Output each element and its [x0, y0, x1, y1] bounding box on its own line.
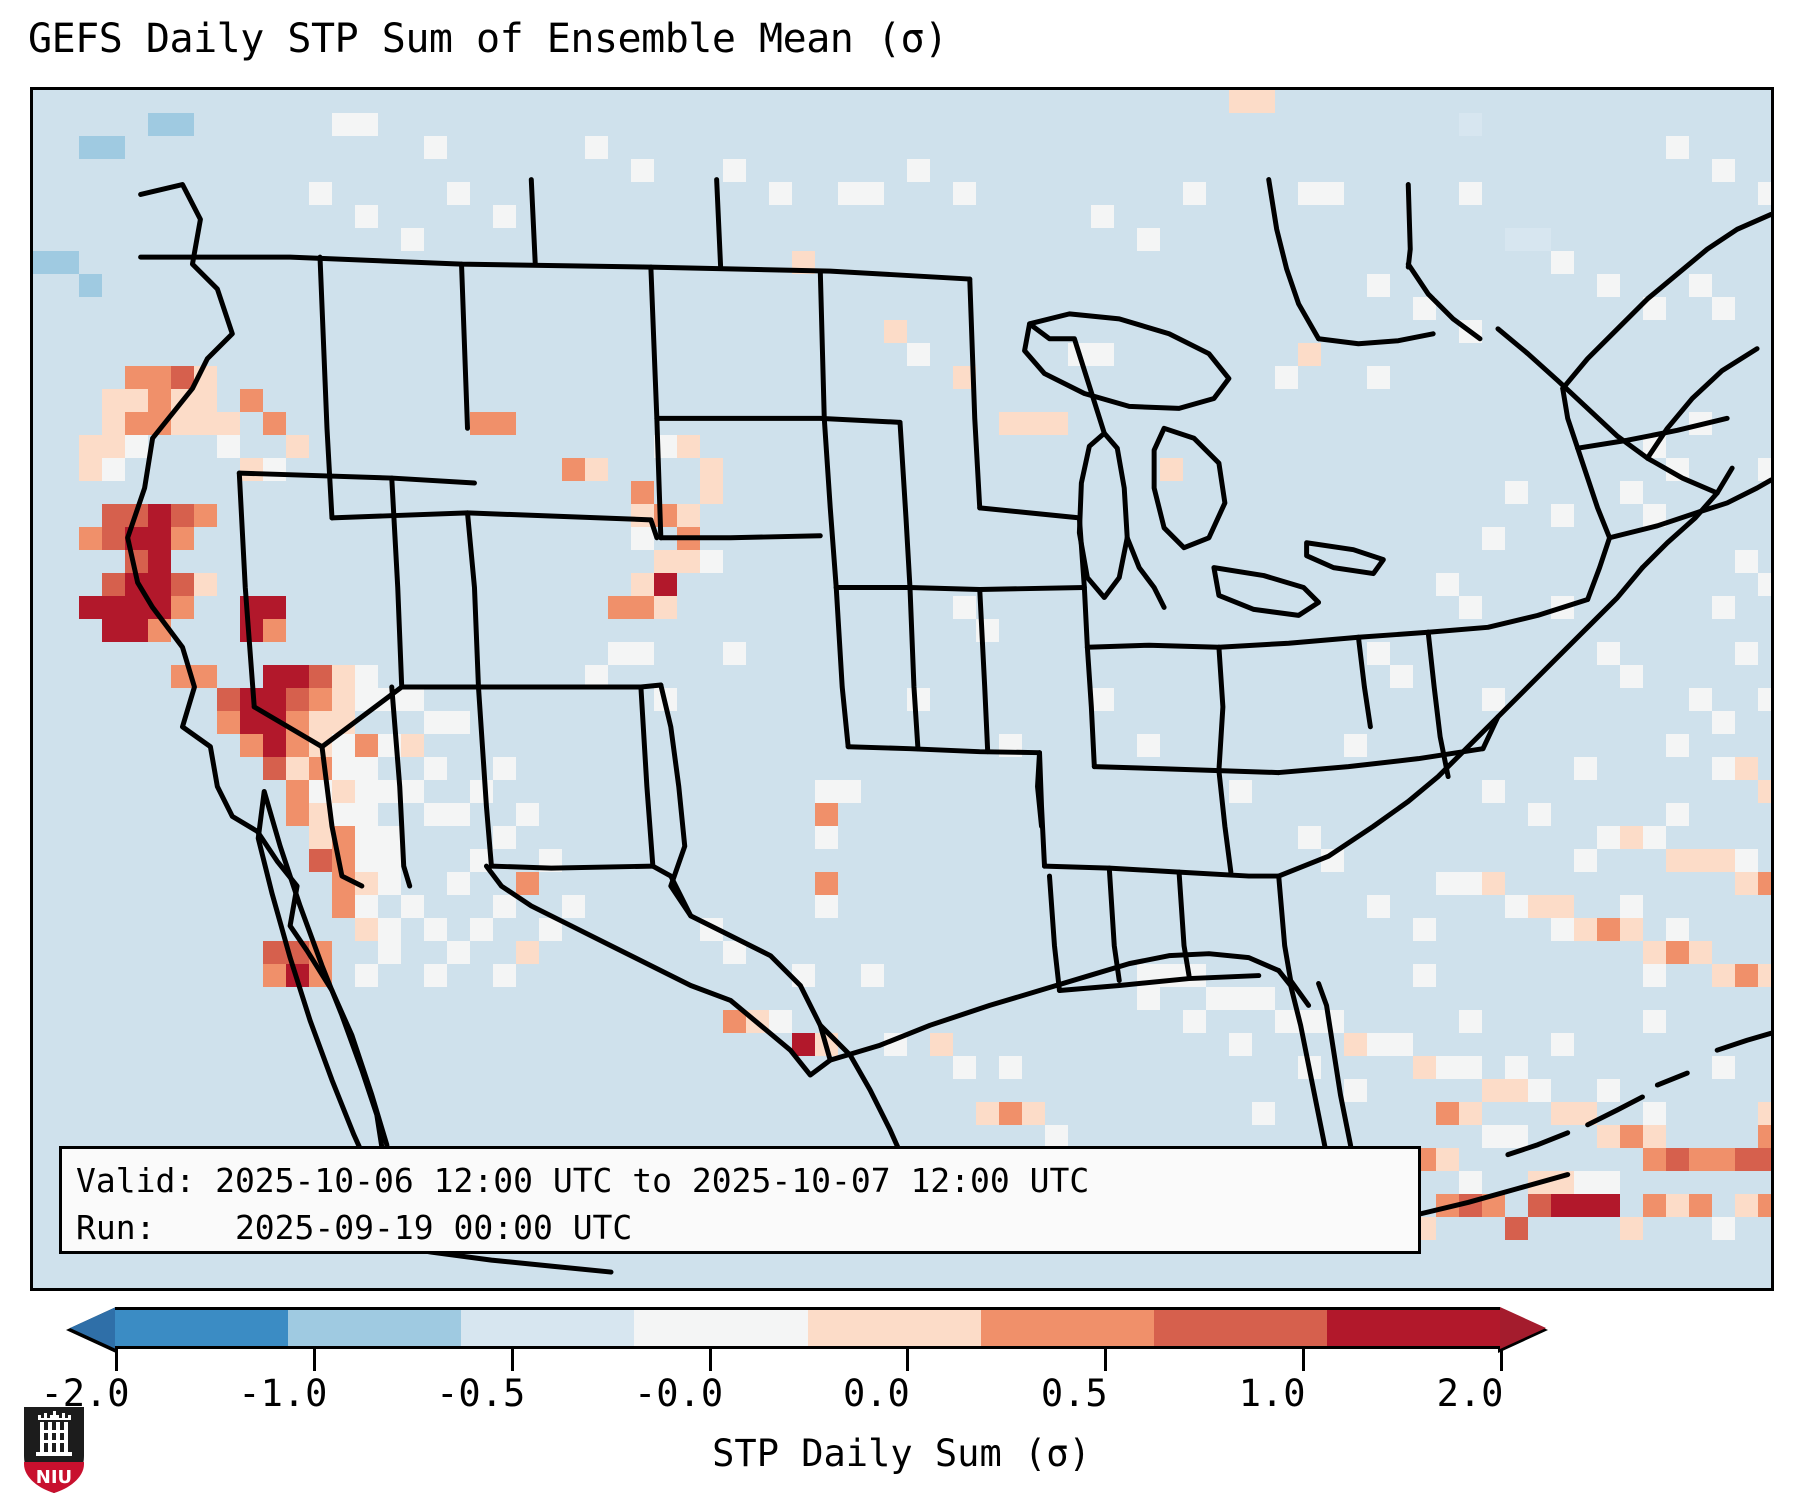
heatmap-cell	[401, 688, 424, 711]
heatmap-cell	[1735, 550, 1758, 573]
heatmap-cell	[815, 872, 838, 895]
heatmap-cell	[194, 573, 217, 596]
heatmap-cell	[1597, 918, 1620, 941]
heatmap-cell	[1091, 343, 1114, 366]
heatmap-cell	[815, 918, 838, 941]
figure-root: GEFS Daily STP Sum of Ensemble Mean (σ)	[0, 0, 1803, 1506]
heatmap-cell	[953, 366, 976, 389]
heatmap-cell	[102, 596, 125, 619]
heatmap-cell	[102, 527, 125, 550]
heatmap-cell	[1436, 1148, 1459, 1171]
heatmap-cell	[309, 757, 332, 780]
heatmap-cell	[355, 826, 378, 849]
heatmap-cell	[1528, 895, 1551, 918]
heatmap-cell	[700, 458, 723, 481]
heatmap-cell	[240, 734, 263, 757]
heatmap-cell	[332, 665, 355, 688]
heatmap-cell	[907, 688, 930, 711]
heatmap-cell	[792, 1033, 815, 1056]
heatmap-cell	[1597, 826, 1620, 849]
heatmap-cell	[332, 757, 355, 780]
heatmap-cell	[1735, 964, 1758, 987]
heatmap-cell	[355, 780, 378, 803]
heatmap-cell	[217, 688, 240, 711]
heatmap-cell	[1551, 1033, 1574, 1056]
heatmap-cell	[447, 596, 470, 619]
run-time-text: Run: 2025-09-19 00:00 UTC	[76, 1204, 1404, 1251]
heatmap-cell	[148, 550, 171, 573]
heatmap-cell	[125, 573, 148, 596]
heatmap-cell	[1367, 1033, 1390, 1056]
heatmap-cell	[746, 734, 769, 757]
heatmap-cell	[309, 780, 332, 803]
heatmap-cell	[815, 895, 838, 918]
colorbar-under-arrow	[70, 1307, 116, 1349]
heatmap-cell	[1367, 642, 1390, 665]
heatmap-cell	[240, 389, 263, 412]
heatmap-cell	[1505, 895, 1528, 918]
heatmap-cell	[309, 803, 332, 826]
heatmap-cell	[1298, 182, 1321, 205]
heatmap-cell	[1712, 1056, 1735, 1079]
heatmap-cell	[1482, 1194, 1505, 1217]
page-title: GEFS Daily STP Sum of Ensemble Mean (σ)	[28, 16, 1788, 62]
heatmap-cell	[1689, 274, 1712, 297]
heatmap-cell	[1551, 1194, 1574, 1217]
heatmap-cell	[286, 757, 309, 780]
heatmap-cell	[1344, 1079, 1367, 1102]
heatmap-cell	[447, 803, 470, 826]
heatmap-cell	[102, 619, 125, 642]
heatmap-cell	[217, 435, 240, 458]
heatmap-cell	[1091, 688, 1114, 711]
heatmap-cell	[1068, 343, 1091, 366]
heatmap-cell	[1735, 872, 1758, 895]
heatmap-cell	[1620, 1125, 1643, 1148]
heatmap-cell	[1597, 1194, 1620, 1217]
heatmap-cell	[1160, 458, 1183, 481]
heatmap-cell	[746, 1010, 769, 1033]
heatmap-cell	[1666, 458, 1689, 481]
heatmap-cell	[470, 596, 493, 619]
heatmap-cell	[723, 642, 746, 665]
heatmap-cell	[171, 573, 194, 596]
heatmap-cell	[79, 527, 102, 550]
heatmap-cell	[585, 136, 608, 159]
heatmap-cell	[171, 504, 194, 527]
heatmap-cell	[1413, 918, 1436, 941]
heatmap-cell	[1666, 849, 1689, 872]
heatmap-cell	[378, 918, 401, 941]
heatmap-cell	[516, 872, 539, 895]
heatmap-cell	[1045, 1125, 1068, 1148]
colorbar-band	[1154, 1310, 1327, 1346]
heatmap-cell	[286, 780, 309, 803]
heatmap-cell	[148, 527, 171, 550]
heatmap-cell	[654, 688, 677, 711]
heatmap-cell	[1712, 964, 1735, 987]
heatmap-cell	[1620, 826, 1643, 849]
colorbar-tick	[115, 1349, 118, 1371]
heatmap-cell	[148, 389, 171, 412]
heatmap-cell	[1551, 504, 1574, 527]
heatmap-cell	[1574, 1102, 1597, 1125]
heatmap-cell	[1367, 274, 1390, 297]
heatmap-cell	[1643, 941, 1666, 964]
heatmap-cell	[608, 596, 631, 619]
heatmap-cell	[1758, 688, 1774, 711]
heatmap-cell	[953, 1056, 976, 1079]
heatmap-cell	[1505, 1125, 1528, 1148]
heatmap-cell	[1298, 1056, 1321, 1079]
heatmap-cell	[1229, 780, 1252, 803]
heatmap-cell	[171, 389, 194, 412]
heatmap-cell	[1620, 918, 1643, 941]
heatmap-cell	[148, 504, 171, 527]
heatmap-cell	[1344, 504, 1367, 527]
heatmap-cell	[1229, 987, 1252, 1010]
heatmap-cell	[424, 757, 447, 780]
heatmap-cell	[378, 734, 401, 757]
heatmap-cell	[1735, 642, 1758, 665]
heatmap-cell	[470, 550, 493, 573]
heatmap-cell	[355, 734, 378, 757]
heatmap-cell	[79, 458, 102, 481]
heatmap-cell	[401, 228, 424, 251]
heatmap-cell	[792, 964, 815, 987]
heatmap-cell	[1390, 665, 1413, 688]
heatmap-cell	[1551, 596, 1574, 619]
heatmap-cell	[631, 481, 654, 504]
heatmap-cell	[263, 458, 286, 481]
heatmap-cell	[1643, 504, 1666, 527]
heatmap-cell	[1643, 826, 1666, 849]
heatmap-cell	[1712, 596, 1735, 619]
heatmap-cell	[654, 550, 677, 573]
heatmap-cell	[1505, 1056, 1528, 1079]
heatmap-cell	[1505, 366, 1528, 389]
heatmap-cell	[815, 1033, 838, 1056]
heatmap-cell	[585, 458, 608, 481]
heatmap-cell	[447, 711, 470, 734]
heatmap-cell	[102, 435, 125, 458]
colorbar-band	[634, 1310, 807, 1346]
map-panel[interactable]	[30, 87, 1774, 1291]
colorbar-band	[1327, 1310, 1500, 1346]
heatmap-cell	[1758, 964, 1774, 987]
heatmap-cell	[1321, 1010, 1344, 1033]
heatmap-cell	[332, 734, 355, 757]
heatmap-cell	[1459, 113, 1482, 136]
heatmap-cell	[309, 941, 332, 964]
heatmap-cell	[1620, 481, 1643, 504]
heatmap-cell	[700, 550, 723, 573]
heatmap-cell	[378, 849, 401, 872]
heatmap-cell	[838, 182, 861, 205]
heatmap-cell	[1459, 320, 1482, 343]
heatmap-cell	[355, 665, 378, 688]
heatmap-cell	[263, 711, 286, 734]
heatmap-cell	[240, 619, 263, 642]
heatmap-cell	[148, 366, 171, 389]
heatmap-cell	[677, 435, 700, 458]
colorbar-band	[981, 1310, 1154, 1346]
heatmap-cell	[1436, 1056, 1459, 1079]
heatmap-cell	[33, 251, 56, 274]
heatmap-cell	[171, 527, 194, 550]
heatmap-cell	[217, 412, 240, 435]
heatmap-cell	[1229, 458, 1252, 481]
heatmap-cell	[1597, 1171, 1620, 1194]
heatmap-cell	[1574, 1171, 1597, 1194]
heatmap-cell	[1413, 435, 1436, 458]
heatmap-cell	[1758, 780, 1774, 803]
heatmap-cell	[1643, 1010, 1666, 1033]
heatmap-cell	[1597, 366, 1620, 389]
heatmap-cell	[1666, 136, 1689, 159]
colorbar-tick-label: -1.0	[238, 1372, 327, 1415]
heatmap-cell	[1758, 1102, 1774, 1125]
heatmap-cell	[1229, 1033, 1252, 1056]
heatmap-cell	[1643, 435, 1666, 458]
heatmap-cell	[999, 412, 1022, 435]
heatmap-cell	[148, 596, 171, 619]
niu-logo: NIU	[16, 1404, 92, 1496]
heatmap-cell	[263, 412, 286, 435]
heatmap-cell	[1390, 1033, 1413, 1056]
niu-logo-text: NIU	[36, 1467, 72, 1488]
heatmap-cell	[1643, 297, 1666, 320]
heatmap-cell	[1551, 918, 1574, 941]
heatmap-cell	[723, 711, 746, 734]
heatmap-cell	[516, 941, 539, 964]
heatmap-cell	[355, 757, 378, 780]
heatmap-cell	[608, 642, 631, 665]
heatmap-cell	[378, 872, 401, 895]
heatmap-cell	[1712, 757, 1735, 780]
heatmap-cell	[838, 780, 861, 803]
heatmap-cell	[355, 688, 378, 711]
heatmap-cell	[1252, 458, 1275, 481]
colorbar-tick	[1500, 1349, 1503, 1371]
heatmap-cell	[263, 964, 286, 987]
heatmap-cell	[447, 550, 470, 573]
colorbar-tick-label: 0.0	[843, 1372, 910, 1415]
heatmap-cell	[286, 941, 309, 964]
heatmap-cell	[1689, 1148, 1712, 1171]
heatmap-cell	[1528, 803, 1551, 826]
heatmap-cell	[953, 182, 976, 205]
heatmap-cell	[1252, 987, 1275, 1010]
heatmap-cell	[1643, 1125, 1666, 1148]
heatmap-cell	[148, 573, 171, 596]
heatmap-cell	[1206, 987, 1229, 1010]
heatmap-cell	[332, 849, 355, 872]
heatmap-cell	[355, 113, 378, 136]
heatmap-cell	[1528, 228, 1551, 251]
heatmap-cell	[1298, 826, 1321, 849]
heatmap-cell	[1344, 1033, 1367, 1056]
heatmap-cell	[355, 895, 378, 918]
heatmap-cell	[102, 504, 125, 527]
heatmap-cell	[1712, 297, 1735, 320]
heatmap-cell	[723, 941, 746, 964]
heatmap-cell	[286, 803, 309, 826]
heatmap-cell	[1022, 412, 1045, 435]
heatmap-cell	[1551, 136, 1574, 159]
heatmap-cell	[171, 366, 194, 389]
heatmap-cell	[1482, 872, 1505, 895]
heatmap-cell	[1482, 1125, 1505, 1148]
heatmap-cell	[1666, 803, 1689, 826]
heatmap-cell	[171, 412, 194, 435]
heatmap-cell	[263, 665, 286, 688]
heatmap-cell	[493, 895, 516, 918]
heatmap-cell	[1666, 1148, 1689, 1171]
colorbar-tick	[709, 1349, 712, 1371]
heatmap-cell	[1367, 895, 1390, 918]
heatmap-cell	[286, 734, 309, 757]
heatmap-cell	[470, 780, 493, 803]
colorbar-band	[288, 1310, 461, 1346]
heatmap-cell	[1045, 412, 1068, 435]
heatmap-cell	[1712, 1217, 1735, 1240]
heatmap-cell	[309, 665, 332, 688]
heatmap-cell	[1413, 964, 1436, 987]
heatmap-cell	[1551, 895, 1574, 918]
heatmap-cell	[1620, 366, 1643, 389]
heatmap-cell	[447, 941, 470, 964]
heatmap-cell	[1758, 1125, 1774, 1148]
heatmap-cell	[1022, 1102, 1045, 1125]
heatmap-cell	[286, 964, 309, 987]
colorbar-tick-label: -0.5	[436, 1372, 525, 1415]
colorbar-ticks	[115, 1349, 1500, 1371]
heatmap-cell	[631, 527, 654, 550]
heatmap-cell	[332, 826, 355, 849]
colorbar-bands[interactable]	[115, 1307, 1500, 1349]
heatmap-cell	[125, 596, 148, 619]
heatmap-cell	[677, 504, 700, 527]
heatmap-cell	[562, 895, 585, 918]
heatmap-cell	[1643, 1148, 1666, 1171]
heatmap-cell	[79, 596, 102, 619]
heatmap-cell	[286, 435, 309, 458]
heatmap-cell	[125, 504, 148, 527]
heatmap-cell	[1459, 1010, 1482, 1033]
heatmap-cell	[1482, 780, 1505, 803]
heatmap-cell	[1183, 182, 1206, 205]
colorbar-band	[808, 1310, 981, 1346]
heatmap-cell	[516, 803, 539, 826]
heatmap-cell	[654, 435, 677, 458]
heatmap-cell	[194, 366, 217, 389]
heatmap-cell	[1137, 964, 1160, 987]
heatmap-cell	[815, 780, 838, 803]
heatmap-cell	[1436, 1102, 1459, 1125]
heatmap-cell	[1367, 366, 1390, 389]
heatmap-cell	[1505, 1079, 1528, 1102]
heatmap-cell	[125, 550, 148, 573]
heatmap-cell	[125, 366, 148, 389]
heatmap-cell	[1344, 734, 1367, 757]
heatmap-cell	[1436, 1194, 1459, 1217]
heatmap-cell	[79, 435, 102, 458]
heatmap-cell	[470, 918, 493, 941]
heatmap-cell	[907, 343, 930, 366]
heatmap-cell	[493, 412, 516, 435]
heatmap-cell	[470, 412, 493, 435]
heatmap-cell	[309, 826, 332, 849]
heatmap-cell	[1758, 1148, 1774, 1171]
heatmap-cell	[378, 780, 401, 803]
heatmap-cell	[79, 274, 102, 297]
heatmap-cell	[1574, 757, 1597, 780]
heatmap-cell	[424, 803, 447, 826]
colorbar-band	[115, 1310, 288, 1346]
heatmap-cell	[1505, 1217, 1528, 1240]
heatmap-cell	[171, 596, 194, 619]
heatmap-cell	[1620, 895, 1643, 918]
heatmap-cell	[1229, 90, 1252, 113]
heatmap-cell	[493, 757, 516, 780]
heatmap-cell	[1482, 527, 1505, 550]
colorbar[interactable]	[30, 1307, 1774, 1349]
heatmap-cell	[1436, 573, 1459, 596]
heatmap-cell	[148, 619, 171, 642]
heatmap-cell	[424, 136, 447, 159]
heatmap-cell	[1252, 90, 1275, 113]
heatmap-cell	[1574, 849, 1597, 872]
colorbar-tick-label: 1.0	[1239, 1372, 1306, 1415]
heatmap-cell	[769, 1010, 792, 1033]
heatmap-cell	[125, 435, 148, 458]
heatmap-cell	[792, 251, 815, 274]
heatmap-cell	[1758, 573, 1774, 596]
heatmap-cell	[1758, 872, 1774, 895]
heatmap-cell	[355, 803, 378, 826]
colorbar-axis-label: STP Daily Sum (σ)	[0, 1432, 1803, 1475]
heatmap-cell	[1712, 849, 1735, 872]
heatmap-cell	[309, 688, 332, 711]
heatmap-cell	[1321, 182, 1344, 205]
heatmap-cell	[1091, 205, 1114, 228]
heatmap-cell	[677, 550, 700, 573]
heatmap-cell	[1551, 1171, 1574, 1194]
heatmap-cell	[1298, 343, 1321, 366]
heatmap-cell	[769, 182, 792, 205]
heatmap-cell	[148, 412, 171, 435]
heatmap-cell	[286, 665, 309, 688]
heatmap-cell	[861, 182, 884, 205]
heatmap-cell	[1436, 872, 1459, 895]
heatmap-cell	[309, 711, 332, 734]
heatmap-cell	[263, 619, 286, 642]
heatmap-cell	[1689, 941, 1712, 964]
heatmap-cell	[286, 688, 309, 711]
heatmap-cell	[401, 780, 424, 803]
heatmap-cell	[1252, 1102, 1275, 1125]
heatmap-cell	[884, 320, 907, 343]
colorbar-tick	[1302, 1349, 1305, 1371]
heatmap-cell	[1137, 228, 1160, 251]
heatmap-cell	[355, 964, 378, 987]
heatmap-cell	[631, 573, 654, 596]
heatmap-cell	[1137, 987, 1160, 1010]
heatmap-cell	[1459, 1194, 1482, 1217]
heatmap-cell	[56, 251, 79, 274]
heatmap-cell	[1459, 182, 1482, 205]
